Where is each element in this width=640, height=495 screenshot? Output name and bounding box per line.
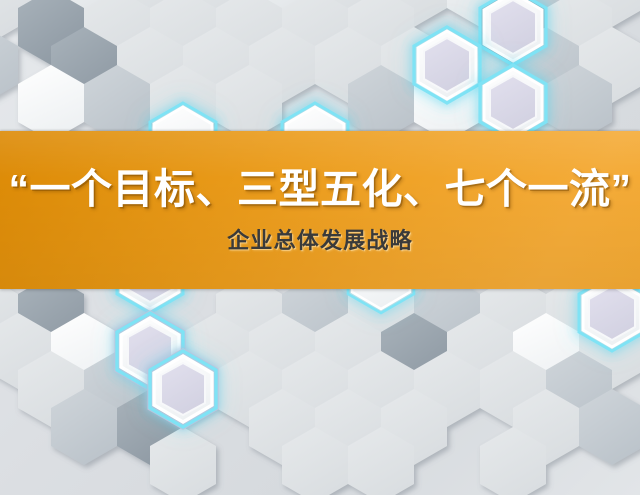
hex-tile [0,27,18,103]
glow-hex [150,351,216,427]
title-banner: “一个目标、三型五化、七个一流” 企业总体发展战略 [0,131,640,289]
presentation-slide: “一个目标、三型五化、七个一流” 企业总体发展战略 [0,0,640,495]
page-subtitle: 企业总体发展战略 [227,230,413,252]
page-title: “一个目标、三型五化、七个一流” [9,169,632,210]
